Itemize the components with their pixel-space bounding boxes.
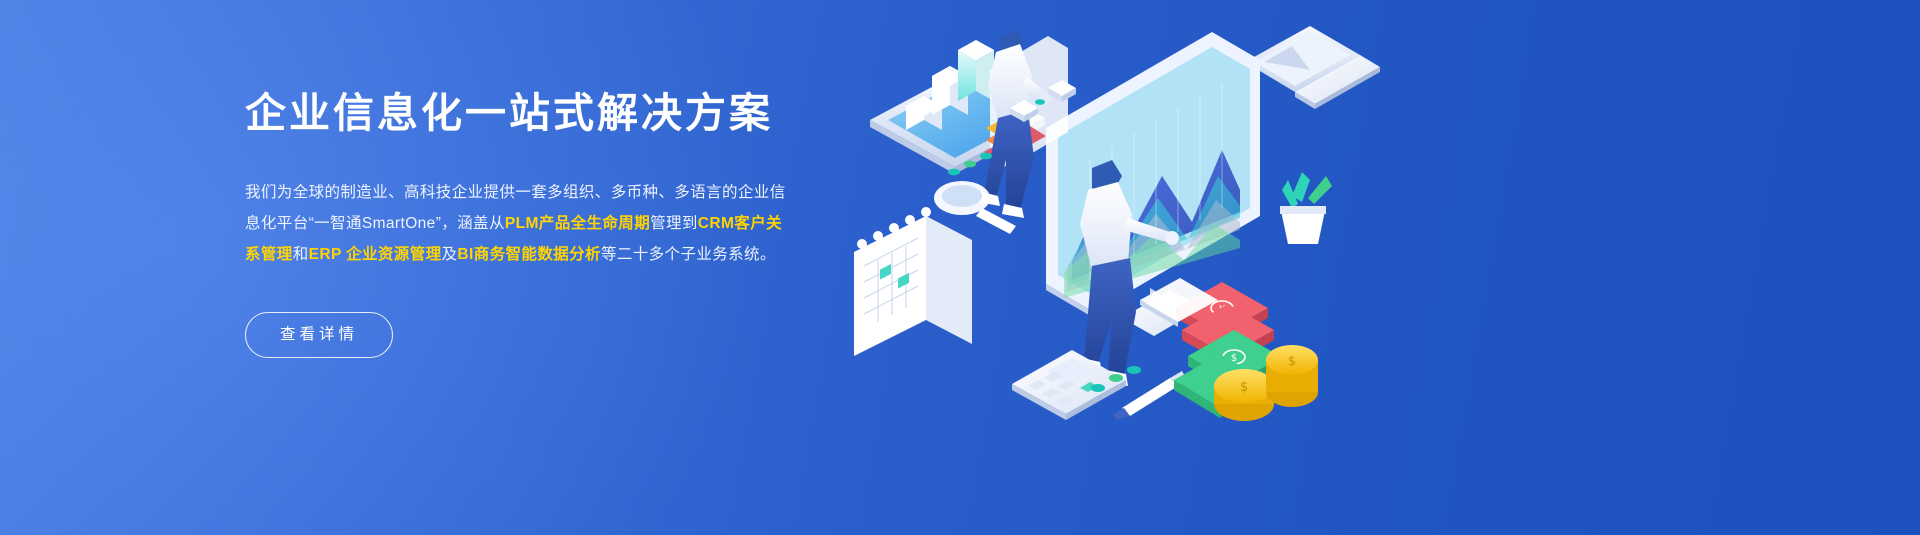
potted-plant [1280, 172, 1332, 244]
svg-text:$: $ [1240, 380, 1248, 395]
svg-text:$: $ [1288, 354, 1296, 368]
hero-illustration: ¥ $ $ [840, 0, 1400, 535]
laptop [1245, 26, 1380, 109]
description-segment-5: 等二十多个子业务系统。 [601, 246, 776, 263]
highlight-plm: PLM产品全生命周期 [505, 215, 650, 232]
description-segment-3: 和 [293, 246, 309, 263]
description-segment-2: 管理到 [650, 215, 698, 232]
hero-text-column: 企业信息化一站式解决方案 我们为全球的制造业、高科技企业提供一套多组织、多币种、… [245, 88, 845, 358]
view-details-button[interactable]: 查看详情 [245, 312, 393, 358]
desk-calendar [854, 207, 972, 356]
hero-description: 我们为全球的制造业、高科技企业提供一套多组织、多币种、多语言的企业信息化平台“一… [245, 177, 797, 270]
hero-banner: 企业信息化一站式解决方案 我们为全球的制造业、高科技企业提供一套多组织、多币种、… [0, 0, 1920, 535]
page-title: 企业信息化一站式解决方案 [245, 88, 845, 139]
highlight-bi: BI商务智能数据分析 [457, 246, 601, 263]
highlight-erp: ERP 企业资源管理 [309, 246, 442, 263]
description-segment-4: 及 [442, 246, 458, 263]
